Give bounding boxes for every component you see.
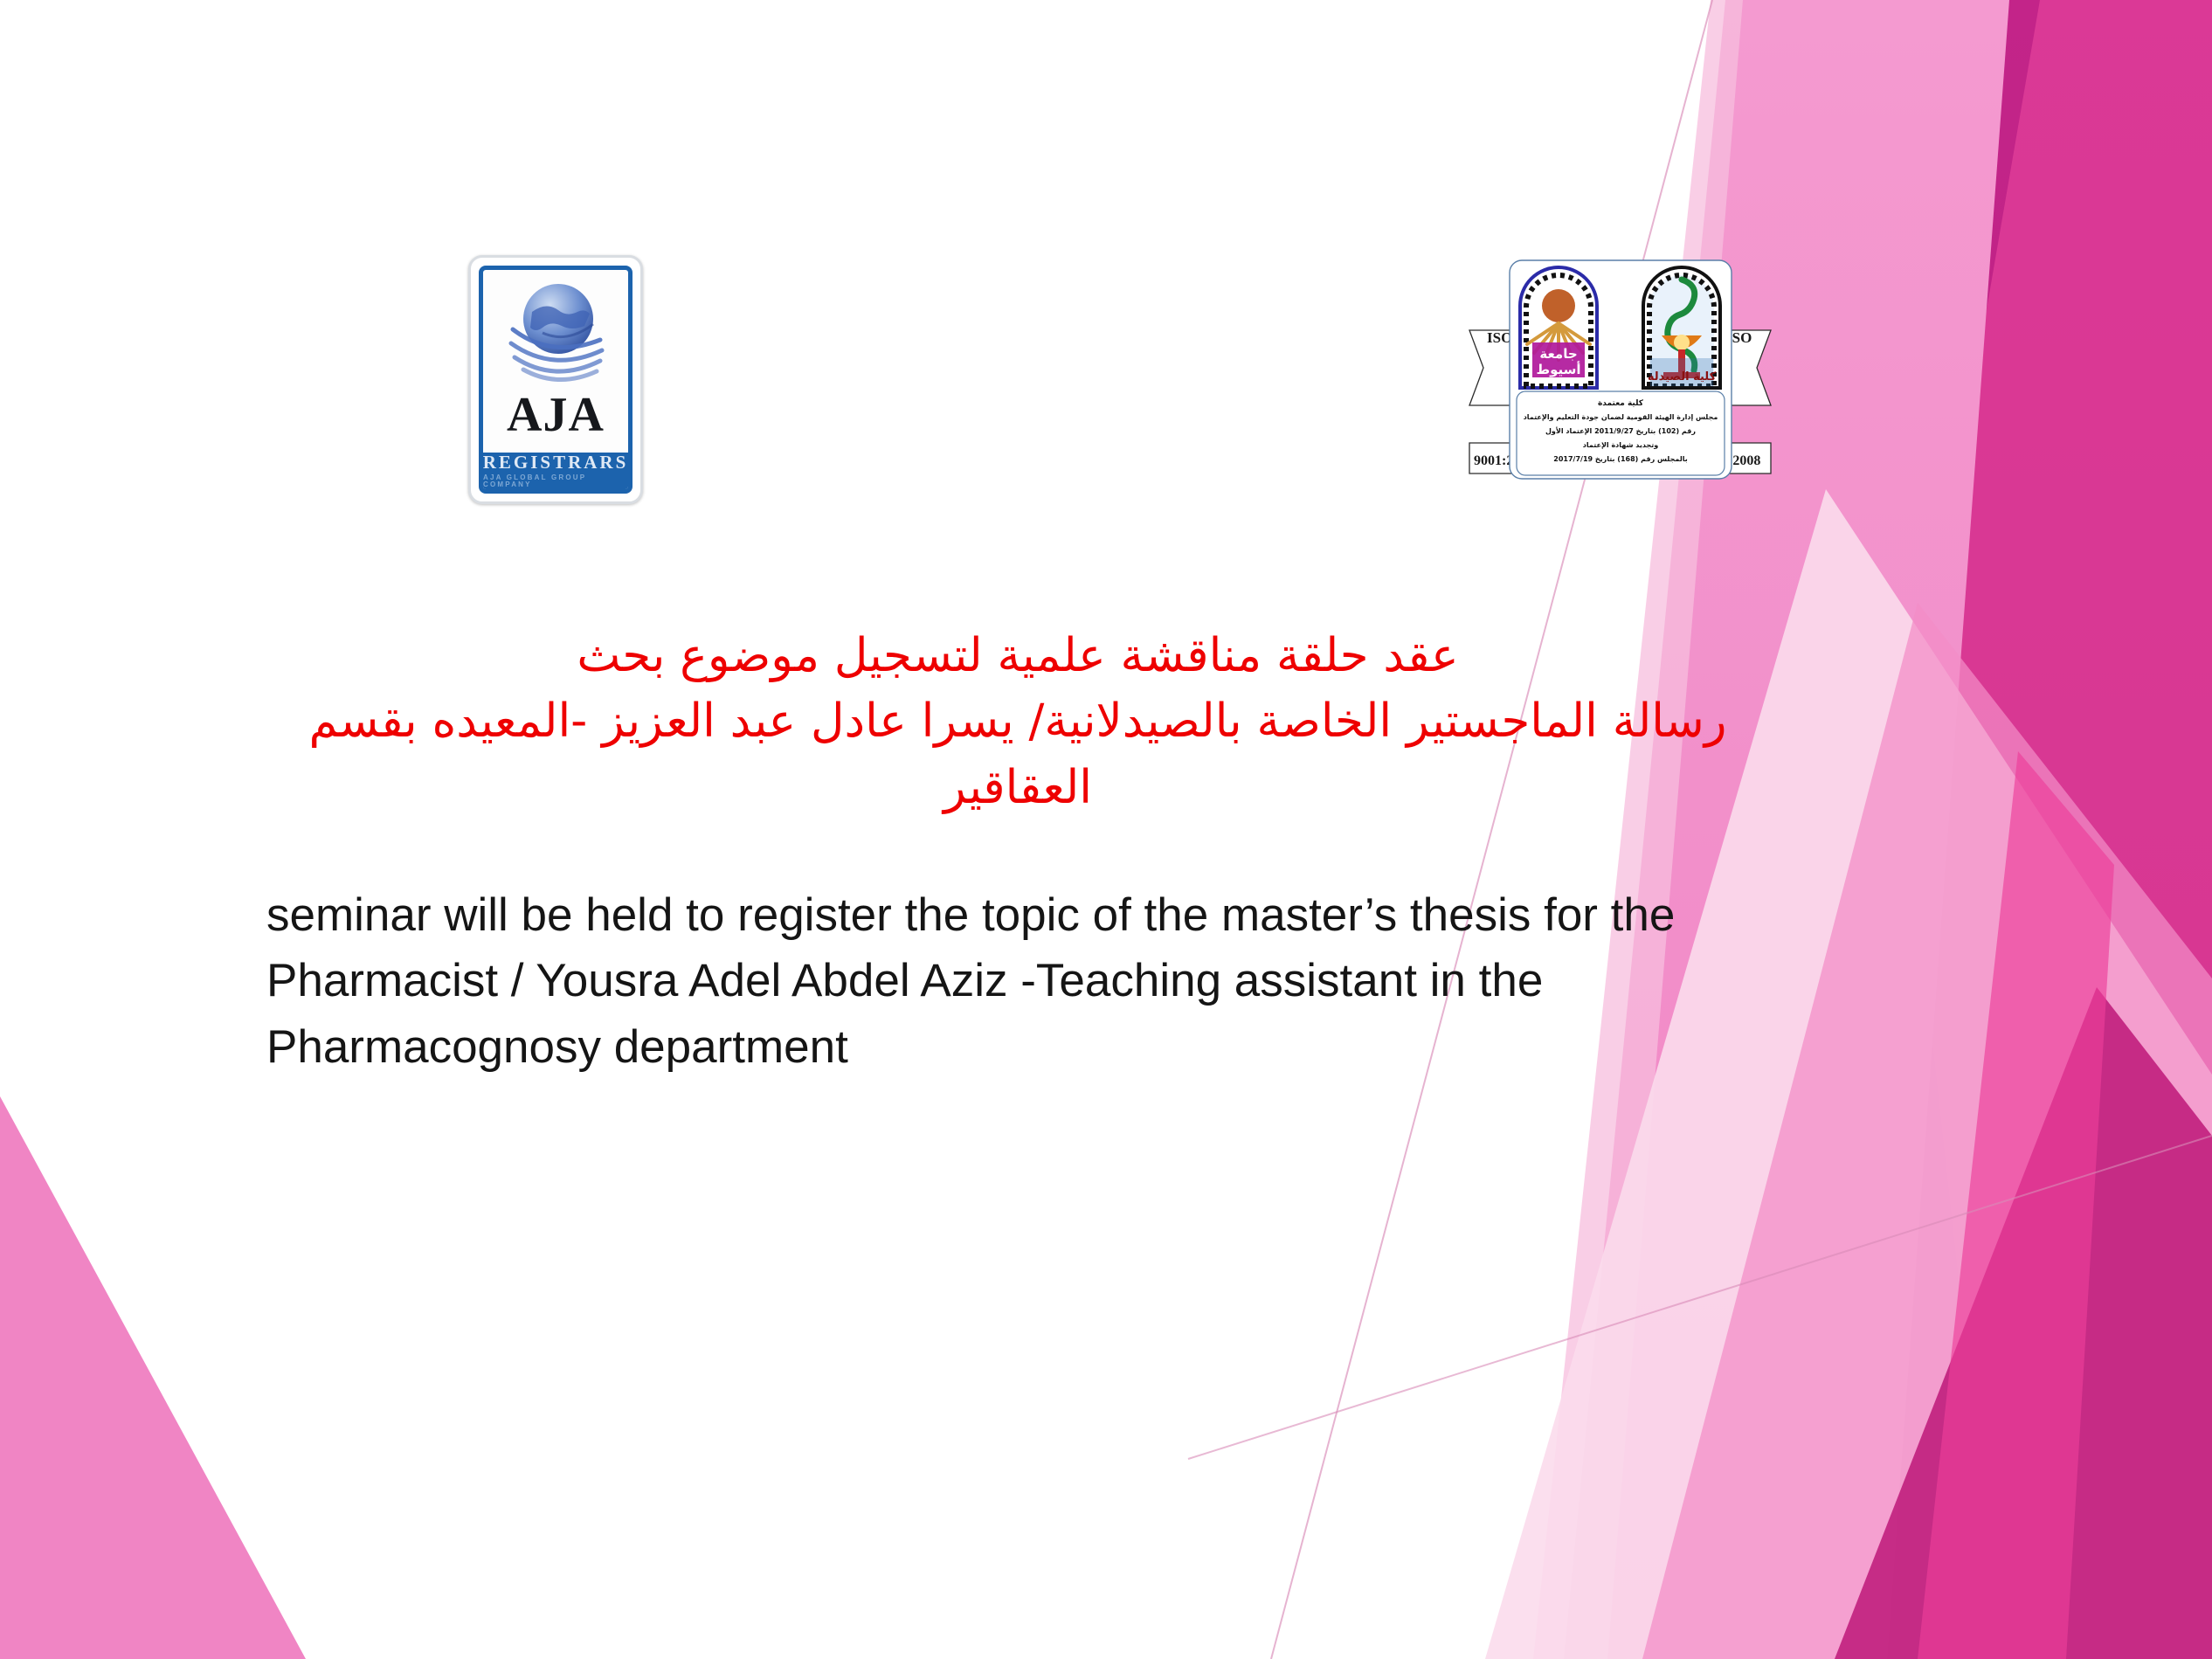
assiut-university-crest: جامعة أسيوط <box>1520 267 1597 388</box>
caption-line-2: مجلس إدارة الهيئة القومية لضمان جودة الت… <box>1524 413 1718 422</box>
shape-hot-pink-streak <box>1918 751 2114 1659</box>
shape-magenta-lower <box>1835 987 2212 1659</box>
aja-registrars-bar: REGISTRARS AJA GLOBAL GROUP COMPANY <box>483 453 628 489</box>
caption-line-4: وتجديد شهادة الإعتماد <box>1583 441 1658 449</box>
shape-pink-sliver <box>1533 0 1743 1659</box>
crest-left-line1: جامعة <box>1539 346 1577 362</box>
aja-wordmark: AJA <box>507 392 605 439</box>
aja-bar-main-label: REGISTRARS <box>483 453 629 472</box>
faculty-accreditation-logo: ISO ISO 9001:2015 9001:2008 <box>1464 255 1776 484</box>
shape-pink-band <box>1564 0 2009 1659</box>
hairline-diagonal-lower <box>1188 1136 2212 1459</box>
hairline-diagonal-upper <box>1271 0 1712 1659</box>
presentation-slide: AJA REGISTRARS AJA GLOBAL GROUP COMPANY … <box>0 0 2212 1659</box>
aja-logo-inner: AJA REGISTRARS AJA GLOBAL GROUP COMPANY <box>479 266 632 494</box>
faculty-of-pharmacy-crest: كلية الصيدلة <box>1643 267 1720 388</box>
shape-hot-pink-wedge <box>1904 0 2212 1659</box>
arabic-heading: عقد حلقة مناقشة علمية لتسجيل موضوع بحث ر… <box>262 623 1773 820</box>
english-body-text: seminar will be held to register the top… <box>266 882 1752 1080</box>
shape-magenta-field <box>1791 0 2212 1659</box>
aja-logo-frame: AJA REGISTRARS AJA GLOBAL GROUP COMPANY <box>468 255 643 504</box>
caption-line-1: كلية معتمدة <box>1598 399 1644 408</box>
aja-bar-sub-label: AJA GLOBAL GROUP COMPANY <box>483 474 628 488</box>
crest-left-line2: أسيوط <box>1537 361 1581 377</box>
background-decoration <box>0 0 2212 1659</box>
globe-icon <box>497 280 614 391</box>
shape-bottom-left-wedge <box>0 1096 306 1659</box>
iso-left-label: ISO <box>1487 329 1512 346</box>
aja-registrars-logo: AJA REGISTRARS AJA GLOBAL GROUP COMPANY <box>468 255 643 504</box>
crest-right-text: كلية الصيدلة <box>1648 370 1717 384</box>
caption-line-3: رقم (102) بتاريخ 2011/9/27 الإعتماد الأو… <box>1545 426 1696 435</box>
caption-line-5: بالمجلس رقم (168) بتاريخ 2017/7/19 <box>1553 455 1687 464</box>
